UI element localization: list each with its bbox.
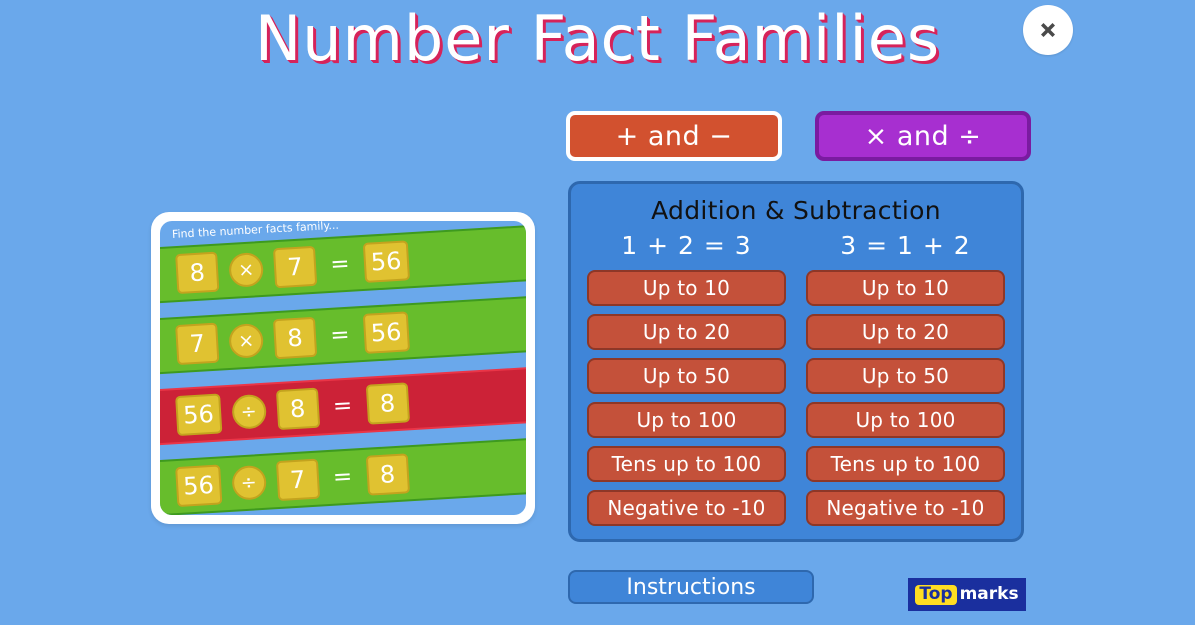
close-x-icon <box>1034 16 1062 44</box>
fact-row: 56 ÷ 7 = 8 <box>160 437 526 515</box>
range-button-left-up-to-10[interactable]: Up to 10 <box>587 270 786 306</box>
column-headers: 1 + 2 = 3 3 = 1 + 2 <box>571 231 1021 260</box>
divide-icon: ÷ <box>231 465 267 501</box>
range-button-right-tens-up-to-100[interactable]: Tens up to 100 <box>806 446 1005 482</box>
fact-operand-a: 56 <box>175 464 222 507</box>
range-button-right-negative-to-10[interactable]: Negative to -10 <box>806 490 1005 526</box>
equals-sign: = <box>329 392 356 419</box>
logo-top-text: Top <box>915 585 956 605</box>
tab-add-subtract[interactable]: + and − <box>566 111 782 161</box>
preview-screenshot: Find the number facts family... 8 × 7 = … <box>160 221 526 515</box>
fact-operand-a: 8 <box>175 252 219 294</box>
fact-result: 56 <box>363 311 410 354</box>
fact-result: 8 <box>365 382 409 424</box>
range-button-right-up-to-50[interactable]: Up to 50 <box>806 358 1005 394</box>
equals-sign: = <box>326 251 353 278</box>
tab-multiply-divide[interactable]: × and ÷ <box>815 111 1031 161</box>
preview-card[interactable]: Find the number facts family... 8 × 7 = … <box>151 212 535 524</box>
page-title: Number Fact Families <box>0 2 1195 75</box>
range-button-right-up-to-20[interactable]: Up to 20 <box>806 314 1005 350</box>
fact-row: 7 × 8 = 56 <box>160 295 526 375</box>
column-header-left: 1 + 2 = 3 <box>577 231 796 260</box>
range-button-left-up-to-50[interactable]: Up to 50 <box>587 358 786 394</box>
mode-tabs: + and − × and ÷ <box>566 108 1031 164</box>
panel-heading: Addition & Subtraction <box>571 196 1021 225</box>
fact-operand-b: 7 <box>273 246 317 288</box>
option-column-left: Up to 10 Up to 20 Up to 50 Up to 100 Ten… <box>587 270 786 526</box>
fact-operand-b: 7 <box>275 459 319 501</box>
equals-sign: = <box>329 463 356 490</box>
instructions-button[interactable]: Instructions <box>568 570 814 604</box>
fact-result: 56 <box>363 240 410 283</box>
multiply-icon: × <box>228 252 264 288</box>
fact-operand-b: 8 <box>275 388 319 430</box>
multiply-icon: × <box>228 323 264 359</box>
fact-operand-a: 7 <box>175 323 219 365</box>
range-button-right-up-to-10[interactable]: Up to 10 <box>806 270 1005 306</box>
column-header-right: 3 = 1 + 2 <box>796 231 1015 260</box>
option-column-right: Up to 10 Up to 20 Up to 50 Up to 100 Ten… <box>806 270 1005 526</box>
equals-sign: = <box>326 322 353 349</box>
range-button-right-up-to-100[interactable]: Up to 100 <box>806 402 1005 438</box>
divide-icon: ÷ <box>231 394 267 430</box>
option-grid: Up to 10 Up to 20 Up to 50 Up to 100 Ten… <box>571 260 1021 526</box>
topmarks-logo[interactable]: Top marks <box>908 578 1026 611</box>
fact-operand-a: 56 <box>175 393 222 436</box>
fact-result: 8 <box>365 453 409 495</box>
range-button-left-tens-up-to-100[interactable]: Tens up to 100 <box>587 446 786 482</box>
options-panel: Addition & Subtraction 1 + 2 = 3 3 = 1 +… <box>568 181 1024 542</box>
fact-operand-b: 8 <box>273 317 317 359</box>
range-button-left-up-to-100[interactable]: Up to 100 <box>587 402 786 438</box>
logo-marks-text: marks <box>960 586 1019 603</box>
fact-row: 56 ÷ 8 = 8 <box>160 366 526 446</box>
range-button-left-up-to-20[interactable]: Up to 20 <box>587 314 786 350</box>
close-button[interactable] <box>1023 5 1073 55</box>
range-button-left-negative-to-10[interactable]: Negative to -10 <box>587 490 786 526</box>
